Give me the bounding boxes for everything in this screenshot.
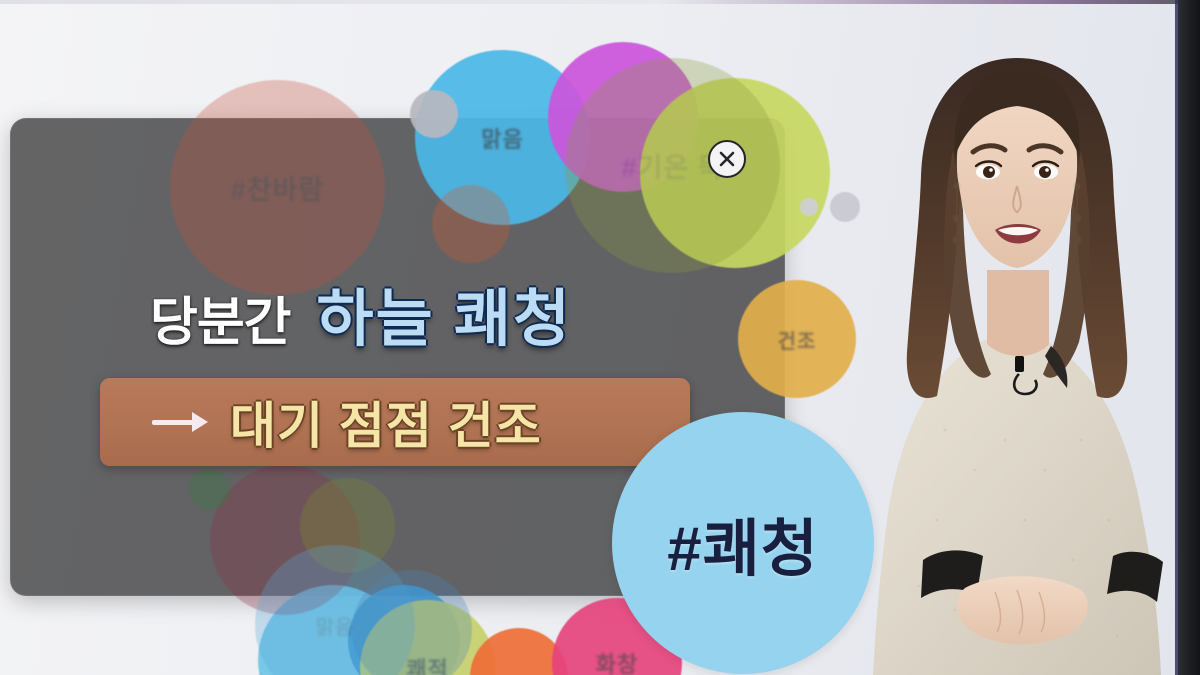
background-bubble: [410, 90, 458, 138]
background-bubble: #기온 뚝: [565, 58, 780, 273]
headline-prefix: 당분간: [150, 280, 291, 355]
background-bubble: [432, 185, 510, 263]
background-bubble-label: 화창: [596, 647, 638, 675]
close-x-icon[interactable]: [708, 140, 746, 178]
headline-emphasis: 하늘 쾌청: [317, 268, 572, 358]
background-bubble: 건조: [738, 280, 856, 398]
background-bubble-label: 건조: [778, 325, 817, 354]
background-bubble-label: 맑음: [316, 611, 355, 640]
broadcast-stage: 맑음건조쾌적화창 #찬바람#기온 뚝맑음 당분간 하늘 쾌청 대기 점점 건조 …: [0, 0, 1200, 675]
weather-presenter: [845, 0, 1185, 675]
hashtag-label: #쾌청: [667, 498, 819, 588]
background-bubble: #찬바람: [170, 80, 385, 295]
subheadline-text: 대기 점점 건조: [230, 386, 542, 458]
background-bubble: [800, 198, 818, 216]
subheadline-banner: 대기 점점 건조: [100, 378, 690, 466]
background-bubble: [188, 468, 230, 510]
headline: 당분간 하늘 쾌청: [150, 268, 572, 358]
arrow-right-icon: [152, 409, 208, 435]
background-bubble-label: #찬바람: [231, 168, 325, 207]
hashtag-circle: #쾌청: [612, 412, 874, 674]
background-bubble-label: 맑음: [481, 122, 523, 154]
